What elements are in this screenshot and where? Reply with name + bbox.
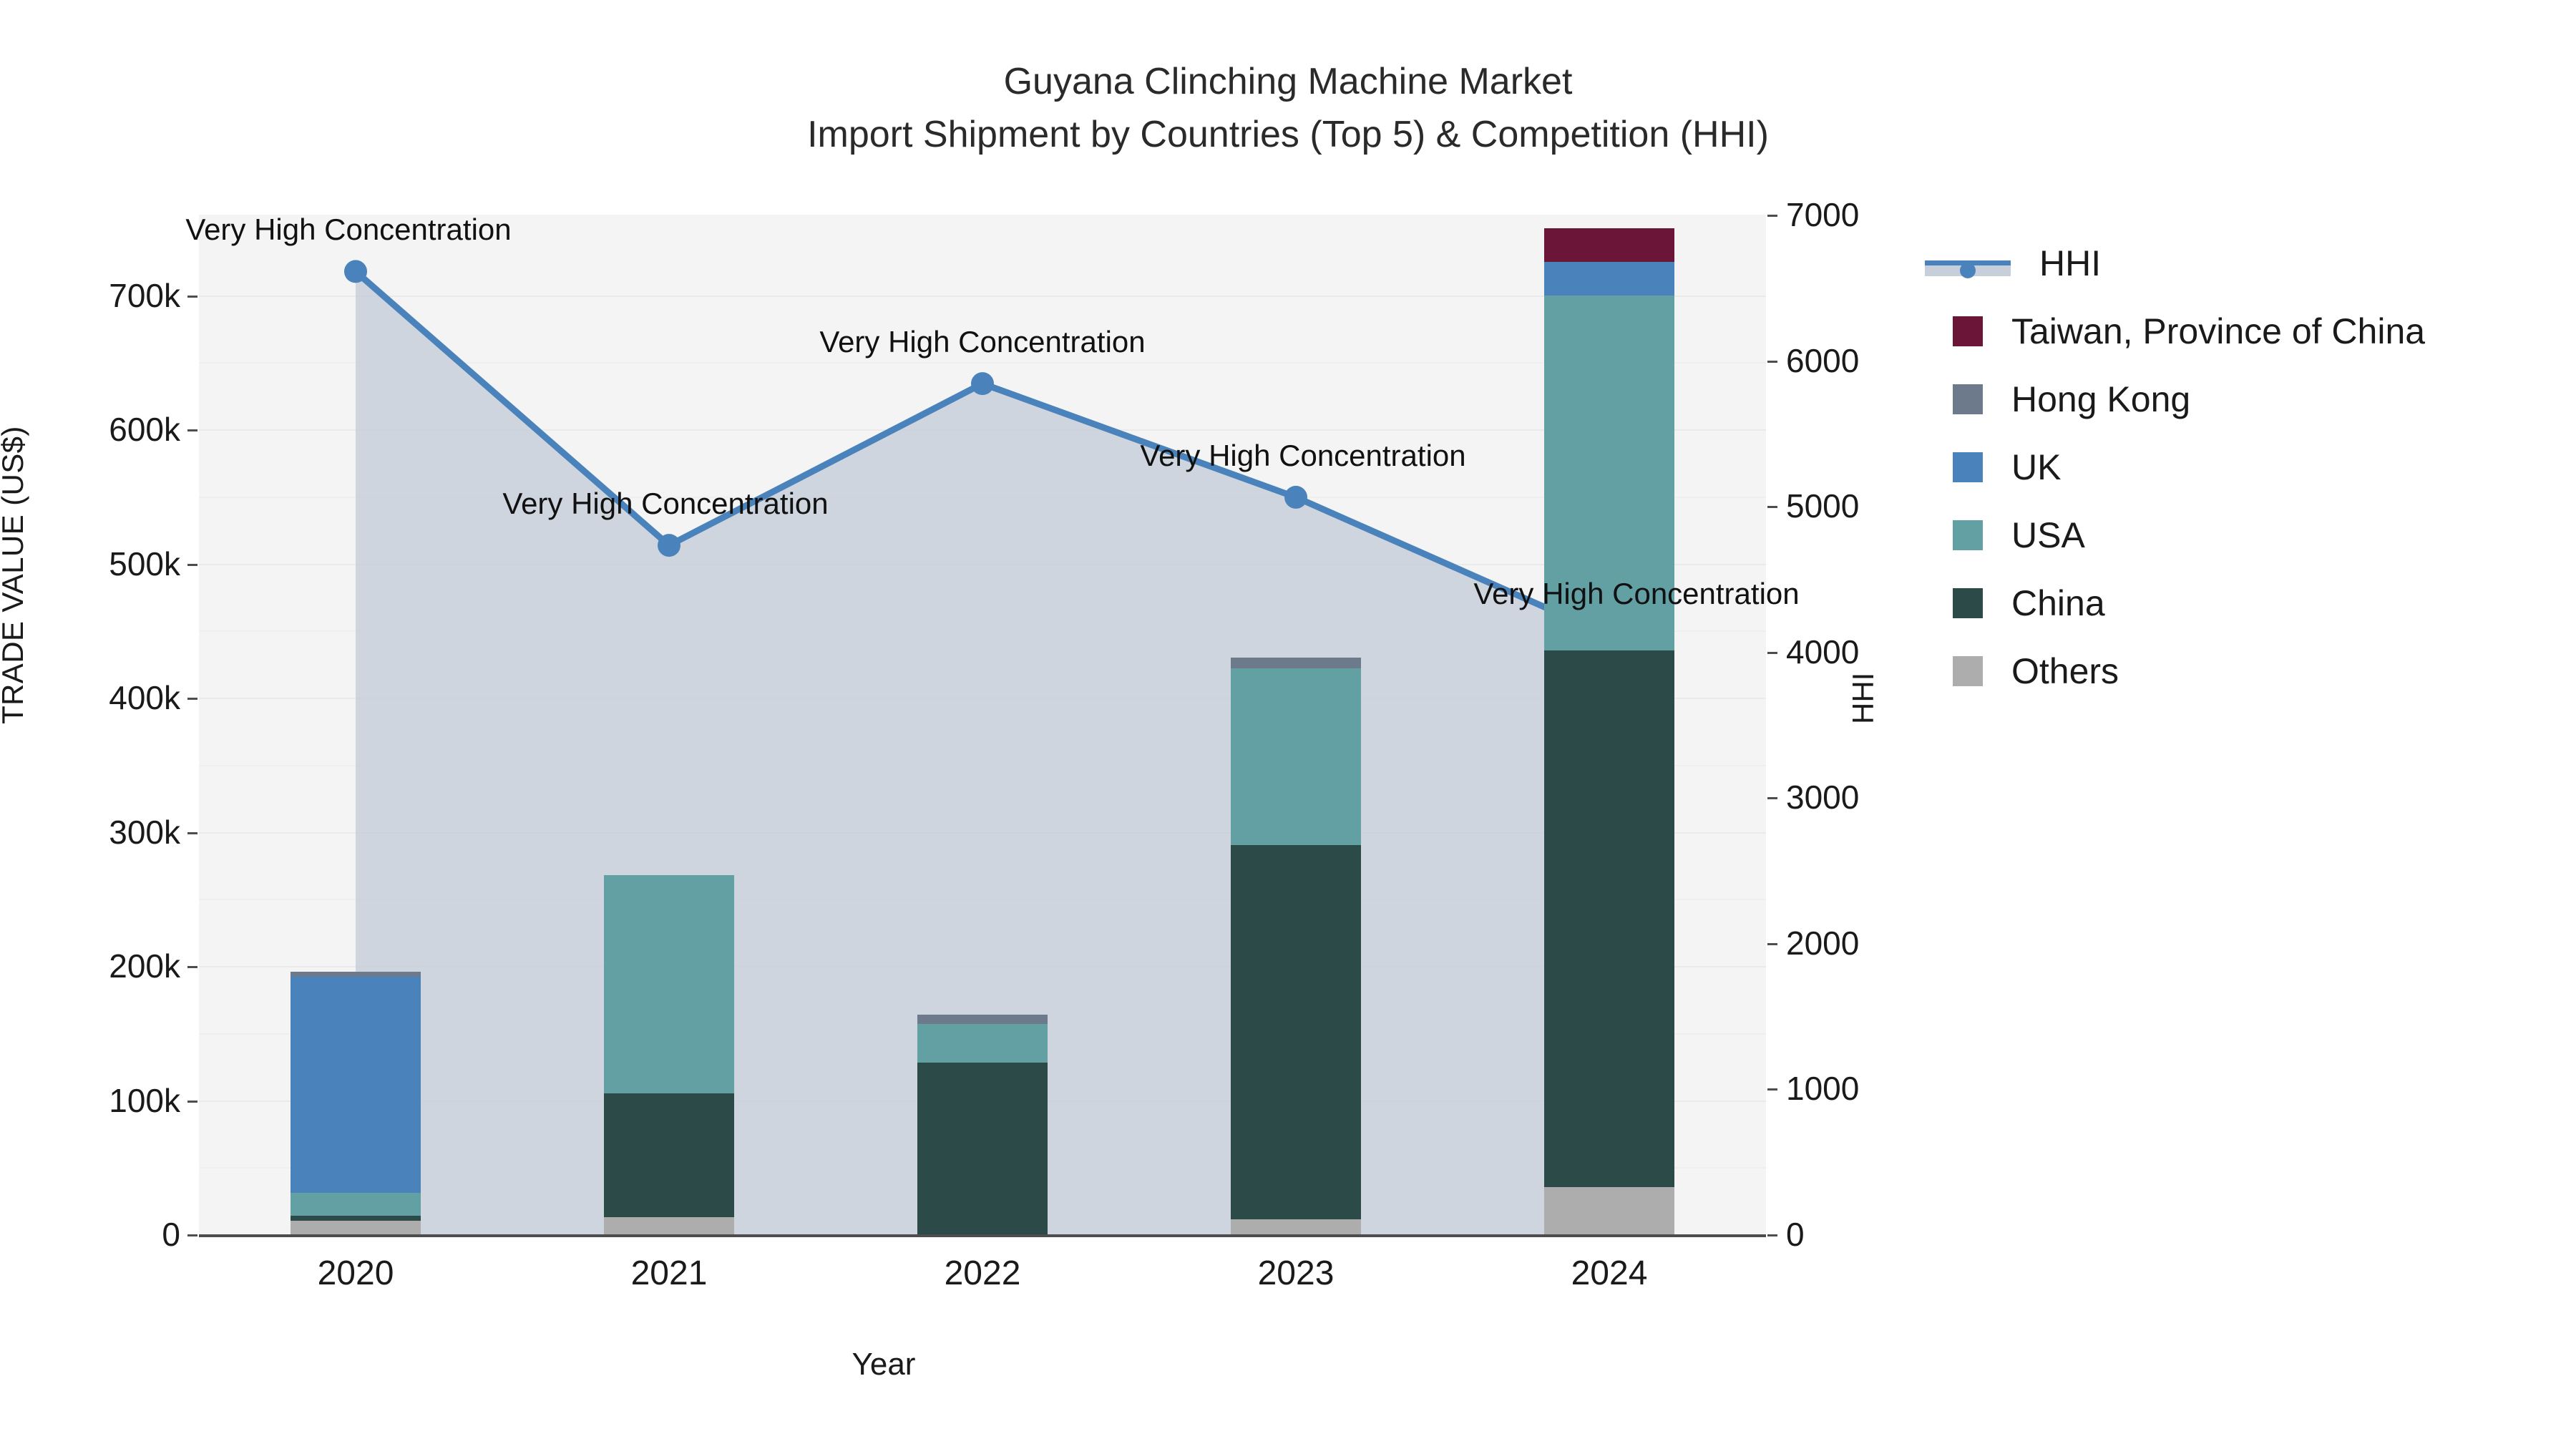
y-axis-right-tick-label: 7000 [1786, 195, 1859, 234]
bar-segment[interactable] [917, 1063, 1048, 1234]
bar-segment[interactable] [291, 977, 421, 1193]
hhi-annotation-label: Very High Concentration [502, 487, 828, 521]
x-axis-title: Year [0, 1347, 1767, 1382]
bar-segment[interactable] [291, 1216, 421, 1221]
bar-segment[interactable] [1231, 658, 1361, 668]
legend-item-label: HHI [2039, 243, 2101, 284]
y-axis-left-tick-mark [187, 296, 197, 298]
bar-segment[interactable] [291, 972, 421, 977]
hhi-annotation-label: Very High Concentration [185, 213, 511, 247]
bar-group[interactable] [1231, 215, 1361, 1234]
y-axis-right-tick-label: 6000 [1786, 341, 1859, 380]
y-axis-right-tick-label: 0 [1786, 1215, 1805, 1254]
y-axis-left-tick-mark [187, 429, 197, 431]
legend-color-swatch [1953, 520, 1983, 550]
x-axis-spine [199, 1234, 1766, 1237]
legend-item-label: Others [2011, 650, 2119, 692]
legend-color-swatch [1953, 588, 1983, 618]
bar-segment[interactable] [917, 1024, 1048, 1063]
legend-item[interactable]: HHI [1925, 229, 2425, 297]
bar-segment[interactable] [291, 1193, 421, 1216]
legend-item[interactable]: China [1925, 569, 2425, 637]
y-axis-right-tick-label: 5000 [1786, 487, 1859, 525]
bar-segment[interactable] [1231, 845, 1361, 1219]
y-axis-left-tick-label: 200k [0, 947, 180, 985]
bar-segment[interactable] [1231, 668, 1361, 846]
legend-item-label: China [2011, 582, 2105, 624]
x-axis-tick-label: 2020 [318, 1254, 394, 1293]
legend-item[interactable]: Others [1925, 637, 2425, 705]
y-axis-left-tick-label: 100k [0, 1081, 180, 1120]
legend-item-label: USA [2011, 514, 2085, 556]
plot-area [199, 215, 1766, 1234]
hhi-annotation-label: Very High Concentration [1473, 577, 1799, 611]
y-axis-right-tick-label: 2000 [1786, 924, 1859, 962]
legend-item[interactable]: UK [1925, 433, 2425, 501]
bar-group[interactable] [917, 215, 1048, 1234]
bar-segment[interactable] [1544, 228, 1674, 262]
y-axis-right-tick-mark [1767, 797, 1777, 799]
y-axis-right-tick-label: 4000 [1786, 633, 1859, 671]
chart-root: Guyana Clinching Machine Market Import S… [0, 0, 2576, 1449]
y-axis-right-tick-mark [1767, 361, 1777, 363]
bar-segment[interactable] [1544, 650, 1674, 1187]
legend-color-swatch [1953, 452, 1983, 482]
y-axis-right-tick-mark [1767, 215, 1777, 217]
y-axis-left-tick-label: 0 [0, 1215, 180, 1254]
y-axis-right-tick-label: 1000 [1786, 1069, 1859, 1108]
hhi-annotation-label: Very High Concentration [819, 325, 1145, 359]
x-axis-tick-label: 2022 [945, 1254, 1021, 1293]
hhi-annotation-label: Very High Concentration [1140, 439, 1465, 473]
legend-line-marker [1960, 263, 1976, 278]
y-axis-left-tick-mark [187, 966, 197, 968]
x-axis-tick-label: 2024 [1571, 1254, 1648, 1293]
bar-segment[interactable] [1544, 1187, 1674, 1234]
legend-color-swatch [1953, 656, 1983, 686]
bar-group[interactable] [1544, 215, 1674, 1234]
y-axis-right-tick-label: 3000 [1786, 778, 1859, 816]
y-axis-right-title: HHI [1846, 673, 1880, 724]
y-axis-left-tick-mark [187, 1101, 197, 1103]
y-axis-right-tick-mark [1767, 943, 1777, 945]
chart-title: Guyana Clinching Machine Market Import S… [0, 56, 2576, 162]
bar-segment[interactable] [604, 1217, 734, 1234]
legend-item-label: UK [2011, 447, 2061, 488]
chart-title-line-2: Import Shipment by Countries (Top 5) & C… [0, 109, 2576, 162]
bar-segment[interactable] [604, 875, 734, 1094]
y-axis-right-tick-mark [1767, 1234, 1777, 1236]
bar-segment[interactable] [917, 1015, 1048, 1024]
y-axis-left-tick-mark [187, 698, 197, 700]
x-axis-tick-label: 2023 [1258, 1254, 1335, 1293]
bar-segment[interactable] [1231, 1219, 1361, 1234]
legend-color-swatch [1953, 384, 1983, 414]
y-axis-right-tick-mark [1767, 1088, 1777, 1091]
legend: HHITaiwan, Province of ChinaHong KongUKU… [1925, 229, 2425, 705]
y-axis-right-tick-mark [1767, 506, 1777, 508]
legend-item-label: Hong Kong [2011, 379, 2190, 420]
bar-group[interactable] [291, 215, 421, 1234]
x-axis-tick-label: 2021 [631, 1254, 708, 1293]
y-axis-left-tick-mark [187, 1234, 197, 1236]
legend-item-label: Taiwan, Province of China [2011, 311, 2425, 352]
bar-segment[interactable] [1544, 262, 1674, 296]
chart-title-line-1: Guyana Clinching Machine Market [0, 56, 2576, 109]
legend-line-swatch [1925, 248, 2011, 278]
legend-item[interactable]: Taiwan, Province of China [1925, 297, 2425, 365]
bar-segment[interactable] [604, 1093, 734, 1217]
y-axis-left-tick-label: 300k [0, 813, 180, 852]
y-axis-left-tick-mark [187, 564, 197, 566]
legend-item[interactable]: Hong Kong [1925, 365, 2425, 433]
bar-segment[interactable] [291, 1221, 421, 1234]
y-axis-left-tick-mark [187, 832, 197, 834]
bar-group[interactable] [604, 215, 734, 1234]
y-axis-left-title: TRADE VALUE (US$) [0, 426, 30, 724]
legend-item[interactable]: USA [1925, 501, 2425, 569]
y-axis-left-tick-label: 700k [0, 276, 180, 315]
y-axis-right-tick-mark [1767, 652, 1777, 654]
legend-color-swatch [1953, 316, 1983, 346]
